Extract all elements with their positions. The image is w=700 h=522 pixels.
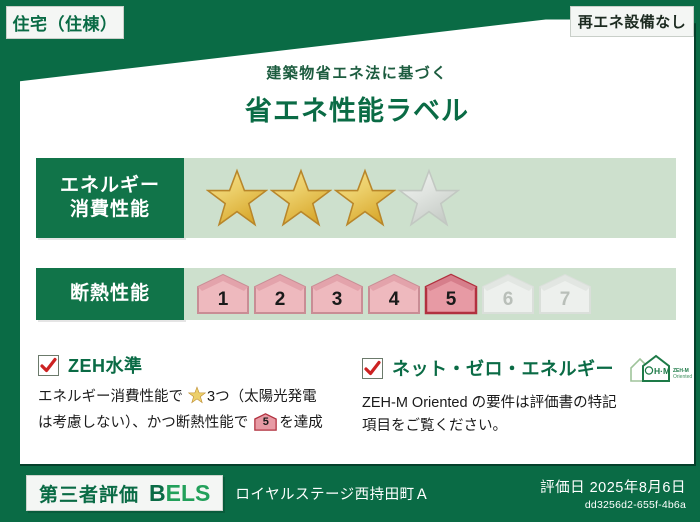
insulation-grade-2-value: 2: [275, 289, 286, 311]
star-icon-inline: [188, 386, 206, 412]
insulation-grade-scale: 1 2 3: [196, 273, 592, 315]
info-body-zeh-part3: は考慮しない）、かつ断熱性能で: [38, 415, 248, 431]
checkmark-icon-zeh-standard: [38, 355, 59, 376]
bels-wordmark-b: B: [149, 480, 166, 506]
info-body-zeh-part1: エネルギー消費性能で: [38, 389, 183, 405]
star-icon-filled-2: [270, 168, 332, 228]
metric-label-energy-line2: 消費性能: [70, 198, 150, 222]
info-body-net-zero-energy: ZEH-M Oriented の要件は評価書の特記 項目をご覧ください。: [362, 392, 672, 439]
insulation-grade-7-value: 7: [560, 289, 571, 311]
info-title-net-zero-energy: ネット・ゼロ・エネルギー: [392, 355, 614, 381]
page-title: 建築物省エネ法に基づく 省エネ性能ラベル: [20, 62, 694, 128]
info-header-zeh-standard: ZEH水準: [38, 352, 343, 378]
info-body-nze-line1: ZEH-M Oriented の要件は評価書の特記: [362, 392, 672, 415]
info-body-zeh-standard: エネルギー消費性能で 3つ（太陽光発電 は考慮しない）、かつ断熱性能で 5 を達…: [38, 386, 343, 436]
certificate-id: dd3256d2-655f-4b6a: [540, 499, 686, 511]
metric-value-insulation-grades: 1 2 3: [184, 268, 676, 320]
svg-text:H·M: H·M: [654, 366, 670, 376]
checkmark-icon-net-zero-energy: [362, 358, 383, 379]
footer: 第三者評価 BELS ロイヤルステージ西持田町Ａ 評価日 2025年8月6日 d…: [20, 470, 694, 516]
info-header-net-zero-energy: ネット・ゼロ・エネルギー H·M ZEH-M Oriented: [362, 352, 672, 384]
bels-badge: 第三者評価 BELS: [26, 475, 223, 511]
metric-label-insulation: 断熱性能: [36, 268, 184, 320]
info-block-net-zero-energy: ネット・ゼロ・エネルギー H·M ZEH-M Oriented ZEH-M Or…: [362, 352, 672, 439]
insulation-grade-7: 7: [538, 273, 592, 315]
info-title-zeh-standard: ZEH水準: [68, 352, 143, 378]
insulation-grade-5-achieved: 5: [424, 273, 478, 315]
insulation-grade-3-value: 3: [332, 289, 343, 311]
insulation-grade-1-value: 1: [218, 289, 229, 311]
info-body-zeh-part2: 3つ（太陽光発電: [207, 389, 317, 405]
building-name: ロイヤルステージ西持田町Ａ: [235, 483, 429, 504]
bels-wordmark-els: ELS: [166, 480, 211, 506]
info-block-zeh-standard: ZEH水準 エネルギー消費性能で 3つ（太陽光発電 は考慮しない）、かつ断熱性能…: [38, 352, 343, 436]
insulation-grade-badge-inline: 5: [254, 413, 277, 431]
insulation-grade-badge-inline-value: 5: [254, 413, 277, 431]
bels-third-party-label: 第三者評価: [39, 480, 139, 507]
star-icon-filled-3: [334, 168, 396, 228]
footer-meta: 評価日 2025年8月6日 dd3256d2-655f-4b6a: [540, 476, 694, 511]
info-body-nze-line2: 項目をご覧ください。: [362, 415, 672, 438]
insulation-grade-6-value: 6: [503, 289, 514, 311]
metric-label-energy-consumption: エネルギー 消費性能: [36, 158, 184, 238]
star-icon-empty-4: [398, 168, 460, 228]
metric-row-insulation: 断熱性能 1 2: [36, 268, 676, 320]
tag-building-type: 住宅（住棟）: [6, 6, 124, 39]
page-main-title: 省エネ性能ラベル: [20, 89, 694, 128]
zeh-m-oriented-logo: H·M ZEH-M Oriented: [627, 352, 700, 384]
metric-value-energy-stars: [184, 158, 676, 238]
insulation-grade-1: 1: [196, 273, 250, 315]
insulation-grade-4: 4: [367, 273, 421, 315]
page-subtitle: 建築物省エネ法に基づく: [20, 62, 694, 83]
insulation-grade-4-value: 4: [389, 289, 400, 311]
metric-row-energy-consumption: エネルギー 消費性能: [36, 158, 676, 238]
insulation-grade-2: 2: [253, 273, 307, 315]
info-body-zeh-part4: を達成: [279, 415, 323, 431]
insulation-grade-6: 6: [481, 273, 535, 315]
insulation-grade-5-value: 5: [446, 289, 457, 311]
star-icon-filled-1: [206, 168, 268, 228]
tag-renewable-status-label: 再エネ設備なし: [578, 11, 687, 32]
metric-label-energy-line1: エネルギー: [60, 174, 160, 198]
zeh-m-logo-caption-line2: Oriented: [673, 374, 692, 380]
bels-wordmark: BELS: [149, 480, 210, 507]
insulation-grade-3: 3: [310, 273, 364, 315]
tag-renewable-status: 再エネ設備なし: [570, 6, 694, 37]
tag-building-type-label: 住宅（住棟）: [13, 10, 118, 35]
evaluation-date: 評価日 2025年8月6日: [540, 476, 686, 497]
metric-label-insulation-text: 断熱性能: [70, 282, 150, 306]
bels-energy-label: 住宅（住棟） 再エネ設備なし 建築物省エネ法に基づく 省エネ性能ラベル ぱぱ間屋…: [0, 0, 700, 522]
